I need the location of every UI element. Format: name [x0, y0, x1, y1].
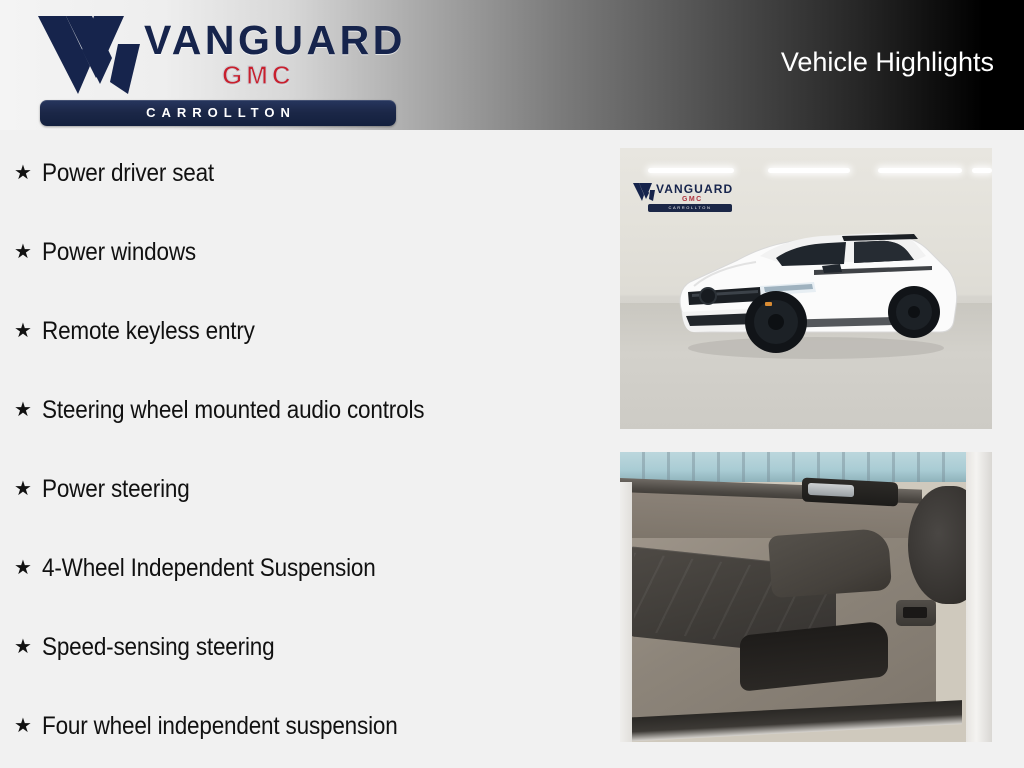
list-item: ★ 4-Wheel Independent Suspension	[14, 553, 413, 583]
dealer-wordmark: VANGUARD	[144, 20, 406, 61]
vanguard-double-v-icon	[32, 10, 148, 106]
star-icon: ★	[14, 400, 42, 420]
suv-vehicle-illustration	[664, 208, 964, 368]
window-switch-icon	[896, 600, 936, 626]
list-item: ★ Steering wheel mounted audio controls	[14, 395, 467, 425]
vehicle-interior-photo[interactable]	[620, 452, 992, 742]
door-frame-left	[620, 482, 632, 742]
star-icon: ★	[14, 321, 42, 341]
ceiling-light-icon	[768, 168, 850, 173]
door-inner-handle-icon	[802, 477, 898, 506]
door-armrest	[768, 528, 892, 598]
vehicle-features-list: ★ Power driver seat ★ Power windows ★ Re…	[0, 130, 600, 768]
star-icon: ★	[14, 558, 42, 578]
feature-label: Steering wheel mounted audio controls	[42, 396, 424, 425]
gmc-brandmark: GMC	[222, 62, 295, 88]
dealer-logo[interactable]: VANGUARD GMC CARROLLTON	[26, 8, 398, 124]
feature-label: Power windows	[42, 238, 196, 267]
feature-label: 4-Wheel Independent Suspension	[42, 554, 376, 583]
ceiling-light-icon	[972, 168, 992, 173]
star-icon: ★	[14, 163, 42, 183]
feature-label: Remote keyless entry	[42, 317, 255, 346]
door-panel-scene	[620, 452, 992, 742]
feature-label: Power driver seat	[42, 159, 214, 188]
star-icon: ★	[14, 637, 42, 657]
list-item: ★ Speed-sensing steering	[14, 632, 300, 662]
vehicle-body-right	[966, 452, 992, 742]
page-header: VANGUARD GMC CARROLLTON Vehicle Highligh…	[0, 0, 1024, 130]
watermark-brandmark: GMC	[682, 196, 703, 203]
star-icon: ★	[14, 716, 42, 736]
vanguard-double-v-icon	[632, 182, 656, 204]
vehicle-highlights-slide: VANGUARD GMC CARROLLTON Vehicle Highligh…	[0, 0, 1024, 768]
list-item: ★ Power steering	[14, 474, 206, 504]
feature-label: Speed-sensing steering	[42, 633, 274, 662]
star-icon: ★	[14, 242, 42, 262]
feature-label: Power steering	[42, 475, 190, 504]
star-icon: ★	[14, 479, 42, 499]
list-item: ★ Power windows	[14, 237, 213, 267]
list-item: ★ Four wheel independent suspension	[14, 711, 437, 741]
watermark-wordmark: VANGUARD	[656, 183, 733, 195]
list-item: ★ Power driver seat	[14, 158, 233, 188]
page-title: Vehicle Highlights	[781, 49, 994, 76]
list-item: ★ Remote keyless entry	[14, 316, 278, 346]
showroom-background: VANGUARD GMC CARROLLTON	[620, 148, 992, 429]
feature-label: Four wheel independent suspension	[42, 712, 398, 741]
vehicle-exterior-photo[interactable]: VANGUARD GMC CARROLLTON	[620, 148, 992, 429]
dealer-city-bar: CARROLLTON	[40, 100, 396, 126]
ceiling-light-icon	[878, 168, 962, 173]
dealer-city-label: CARROLLTON	[40, 100, 396, 126]
ceiling-light-icon	[648, 168, 734, 173]
